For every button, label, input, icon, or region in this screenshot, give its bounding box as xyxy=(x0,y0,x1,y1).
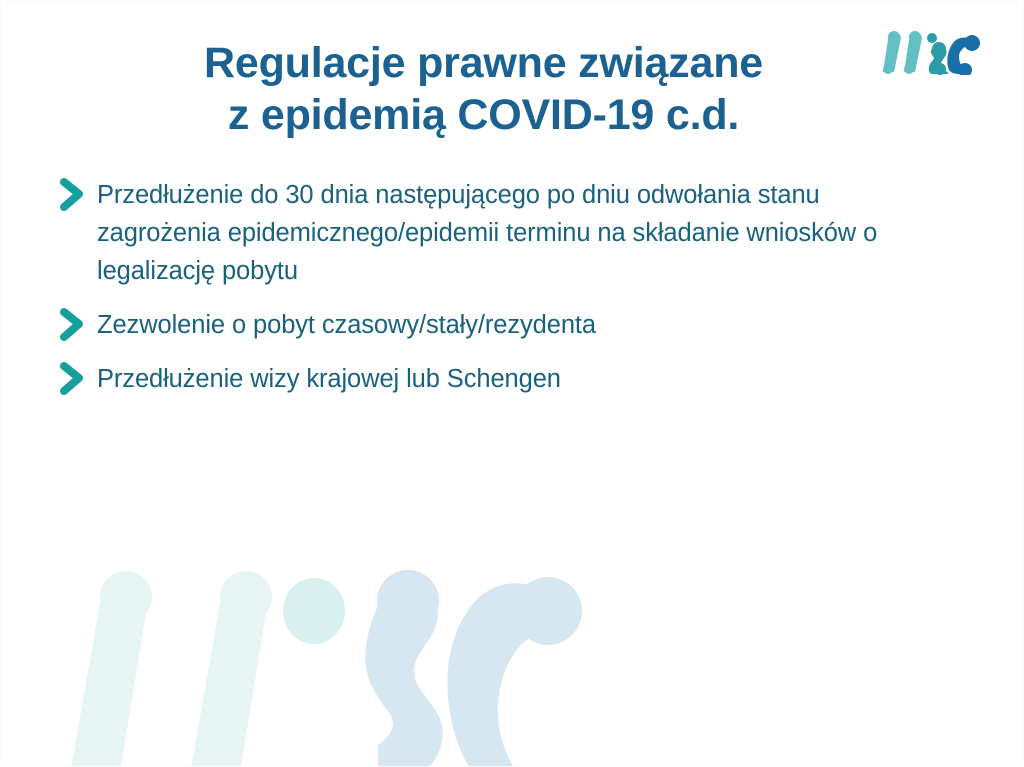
watermark-dot xyxy=(283,578,345,644)
slide-title: Regulacje prawne związane z epidemią COV… xyxy=(61,37,906,141)
bullet-list: Przedłużenie do 30 dnia następującego po… xyxy=(59,176,969,398)
slide-title-line-2: z epidemią COVID-19 c.d. xyxy=(61,89,906,141)
bullet-item: Zezwolenie o pobyt czasowy/stały/rezyden… xyxy=(59,306,969,344)
logo-c xyxy=(947,35,980,75)
bullet-item: Przedłużenie wizy krajowej lub Schengen xyxy=(59,360,969,398)
slide-canvas: Regulacje prawne związane z epidemią COV… xyxy=(0,0,1024,767)
bullet-text: Przedłużenie do 30 dnia następującego po… xyxy=(97,176,902,290)
logo-stroke-2 xyxy=(904,31,922,74)
logo-dot xyxy=(927,33,937,43)
slide-title-line-1: Regulacje prawne związane xyxy=(61,37,906,89)
bullet-text: Zezwolenie o pobyt czasowy/stały/rezyden… xyxy=(97,306,596,344)
bullet-item: Przedłużenie do 30 dnia następującego po… xyxy=(59,176,969,290)
chevron-right-icon xyxy=(59,178,89,212)
watermark-stroke-1 xyxy=(66,571,152,767)
logo-stroke-1 xyxy=(883,31,901,74)
wsc-logo xyxy=(877,29,981,75)
logo-s xyxy=(929,42,949,75)
watermark-c xyxy=(447,577,582,767)
watermark-stroke-2 xyxy=(186,571,272,767)
chevron-right-icon xyxy=(59,308,89,342)
wsc-logo-watermark xyxy=(56,569,601,767)
bullet-text: Przedłużenie wizy krajowej lub Schengen xyxy=(97,360,561,398)
chevron-right-icon xyxy=(59,362,89,396)
watermark-s xyxy=(365,570,443,767)
